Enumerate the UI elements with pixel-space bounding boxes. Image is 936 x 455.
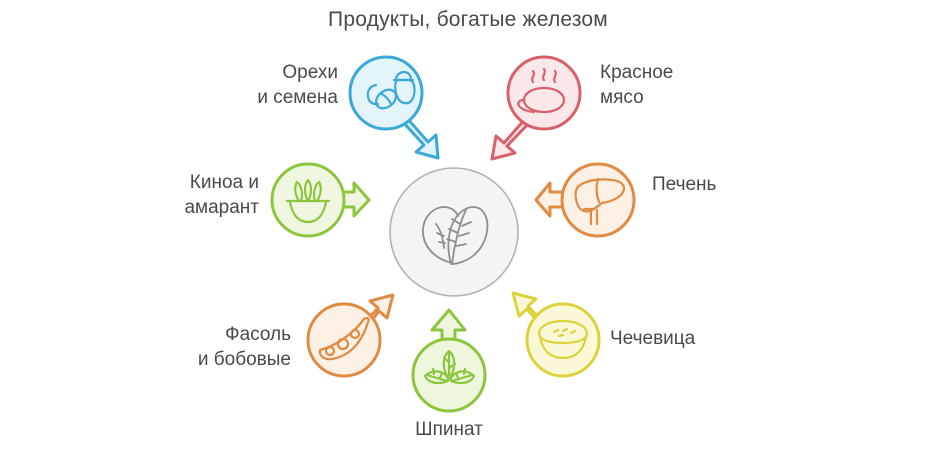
lentil-bowl-icon[interactable]	[506, 282, 611, 387]
bean-pod-icon[interactable]	[298, 280, 403, 385]
center-spinach-node	[388, 166, 520, 303]
liver-icon[interactable]	[536, 156, 646, 246]
label-lentils: Чечевица	[610, 326, 760, 351]
acorn-nuts-icon[interactable]	[348, 55, 458, 170]
grain-bowl-icon[interactable]	[266, 156, 371, 246]
steaming-meat-icon[interactable]	[482, 55, 587, 170]
spinach-sprout-icon[interactable]	[404, 305, 494, 415]
label-nuts-seeds: Орехии семена	[233, 60, 338, 110]
label-quinoa-amaranth: Киноа иамарант	[141, 170, 259, 220]
label-red-meat: Красноемясо	[600, 60, 750, 110]
label-spinach: Шпинат	[364, 417, 534, 442]
spinach-leaves-icon	[388, 166, 520, 298]
iron-rich-foods-infographic: Продукты, богатые железом	[0, 0, 936, 455]
page-title: Продукты, богатые железом	[0, 8, 936, 32]
label-beans-legumes: Фасольи бобовые	[163, 322, 291, 372]
label-liver: Печень	[652, 172, 792, 197]
